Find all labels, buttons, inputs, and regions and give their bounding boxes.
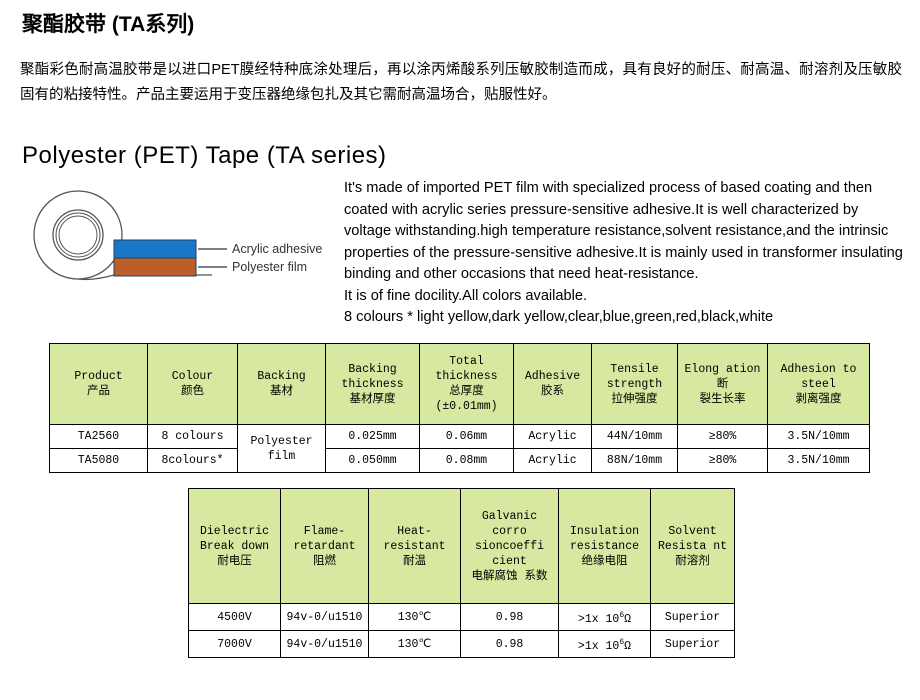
cell-product: TA5080: [50, 449, 148, 473]
cell-heat-resistant: 130℃: [369, 631, 461, 658]
table-header-row: Dielectric Break down 耐电压 Flame- retarda…: [189, 489, 735, 604]
cell-dielectric-breakdown: 7000V: [189, 631, 281, 658]
column-header-backing-thickness: Backing thickness 基材厚度: [326, 344, 420, 425]
column-header-adhesive: Adhesive 胶系: [514, 344, 592, 425]
table-header-row: Product 产品 Colour 颜色 Backing 基材 Backing …: [50, 344, 870, 425]
column-header-flame-retardant: Flame- retardant 阻燃: [281, 489, 369, 604]
cell-backing-thickness: 0.025mm: [326, 425, 420, 449]
tape-layers-illustration: [114, 240, 196, 276]
table-row: TA5080 8colours* 0.050mm 0.08mm Acrylic …: [50, 449, 870, 473]
cell-elongation: ≥80%: [678, 425, 768, 449]
description-paragraph-1: It's made of imported PET film with spec…: [344, 178, 906, 286]
label-acrylic-adhesive: Acrylic adhesive: [232, 242, 322, 256]
specifications-table-primary: Product 产品 Colour 颜色 Backing 基材 Backing …: [49, 343, 870, 473]
cell-solvent-resistant: Superior: [651, 631, 735, 658]
column-header-product: Product 产品: [50, 344, 148, 425]
tape-structure-diagram: Acrylic adhesive Polyester film: [22, 183, 342, 298]
cell-heat-resistant: 130℃: [369, 604, 461, 631]
cell-adhesion-to-steel: 3.5N/10mm: [768, 425, 870, 449]
cell-galvanic-coefficient: 0.98: [461, 604, 559, 631]
cell-adhesive: Acrylic: [514, 449, 592, 473]
description-paragraph-2: It is of fine docility.All colors availa…: [344, 286, 906, 308]
cell-total-thickness: 0.08mm: [420, 449, 514, 473]
column-header-total-thickness: Total thickness 总厚度 (±0.01mm): [420, 344, 514, 425]
page-title-english: Polyester (PET) Tape (TA series): [22, 142, 387, 170]
cell-product: TA2560: [50, 425, 148, 449]
column-header-galvanic-corrosion-coefficient: Galvanic corro sioncoeffi cient 电解腐蚀 系数: [461, 489, 559, 604]
cell-tensile-strength: 88N/10mm: [592, 449, 678, 473]
cell-solvent-resistant: Superior: [651, 604, 735, 631]
column-header-backing: Backing 基材: [238, 344, 326, 425]
cell-elongation: ≥80%: [678, 449, 768, 473]
cell-flame-retardant: 94v-0/u1510: [281, 604, 369, 631]
column-header-colour: Colour 颜色: [148, 344, 238, 425]
cell-tensile-strength: 44N/10mm: [592, 425, 678, 449]
cell-total-thickness: 0.06mm: [420, 425, 514, 449]
page-title-chinese: 聚酯胶带 (TA系列): [22, 8, 194, 38]
specifications-table-secondary: Dielectric Break down 耐电压 Flame- retarda…: [188, 488, 735, 658]
cell-adhesion-to-steel: 3.5N/10mm: [768, 449, 870, 473]
column-header-elongation: Elong ation 断 裂生长率: [678, 344, 768, 425]
insulation-value-unit: Ω: [624, 612, 631, 625]
column-header-solvent-resistant: Solvent Resista nt 耐溶剂: [651, 489, 735, 604]
column-header-heat-resistant: Heat- resistant 耐温: [369, 489, 461, 604]
cell-adhesive: Acrylic: [514, 425, 592, 449]
cell-dielectric-breakdown: 4500V: [189, 604, 281, 631]
insulation-value-prefix: >1x 10: [578, 612, 619, 625]
cell-colour: 8colours*: [148, 449, 238, 473]
table-row: 7000V 94v-0/u1510 130℃ 0.98 >1x 106Ω Sup…: [189, 631, 735, 658]
column-header-tensile-strength: Tensile strength 拉伸强度: [592, 344, 678, 425]
table-row: TA2560 8 colours Polyester film 0.025mm …: [50, 425, 870, 449]
cell-colour: 8 colours: [148, 425, 238, 449]
cell-backing-thickness: 0.050mm: [326, 449, 420, 473]
column-header-adhesion-to-steel: Adhesion to steel 剥离强度: [768, 344, 870, 425]
cell-flame-retardant: 94v-0/u1510: [281, 631, 369, 658]
description-paragraph-3: 8 colours * light yellow,dark yellow,cle…: [344, 307, 906, 329]
product-description-chinese: 聚酯彩色耐高温胶带是以进口PET膜经特种底涂处理后，再以涂丙烯酸系列压敏胶制造而…: [20, 58, 902, 108]
product-description-english: It's made of imported PET film with spec…: [344, 178, 906, 329]
cell-galvanic-coefficient: 0.98: [461, 631, 559, 658]
insulation-value-prefix: >1x 10: [578, 639, 619, 652]
label-polyester-film: Polyester film: [232, 260, 307, 274]
table-row: 4500V 94v-0/u1510 130℃ 0.98 >1x 106Ω Sup…: [189, 604, 735, 631]
column-header-insulation-resistance: Insulation resistance 绝缘电阻: [559, 489, 651, 604]
column-header-dielectric-breakdown: Dielectric Break down 耐电压: [189, 489, 281, 604]
cell-insulation-resistance: >1x 106Ω: [559, 631, 651, 658]
cell-insulation-resistance: >1x 106Ω: [559, 604, 651, 631]
insulation-value-unit: Ω: [624, 639, 631, 652]
leader-lines: [198, 249, 227, 267]
cell-backing: Polyester film: [238, 425, 326, 473]
